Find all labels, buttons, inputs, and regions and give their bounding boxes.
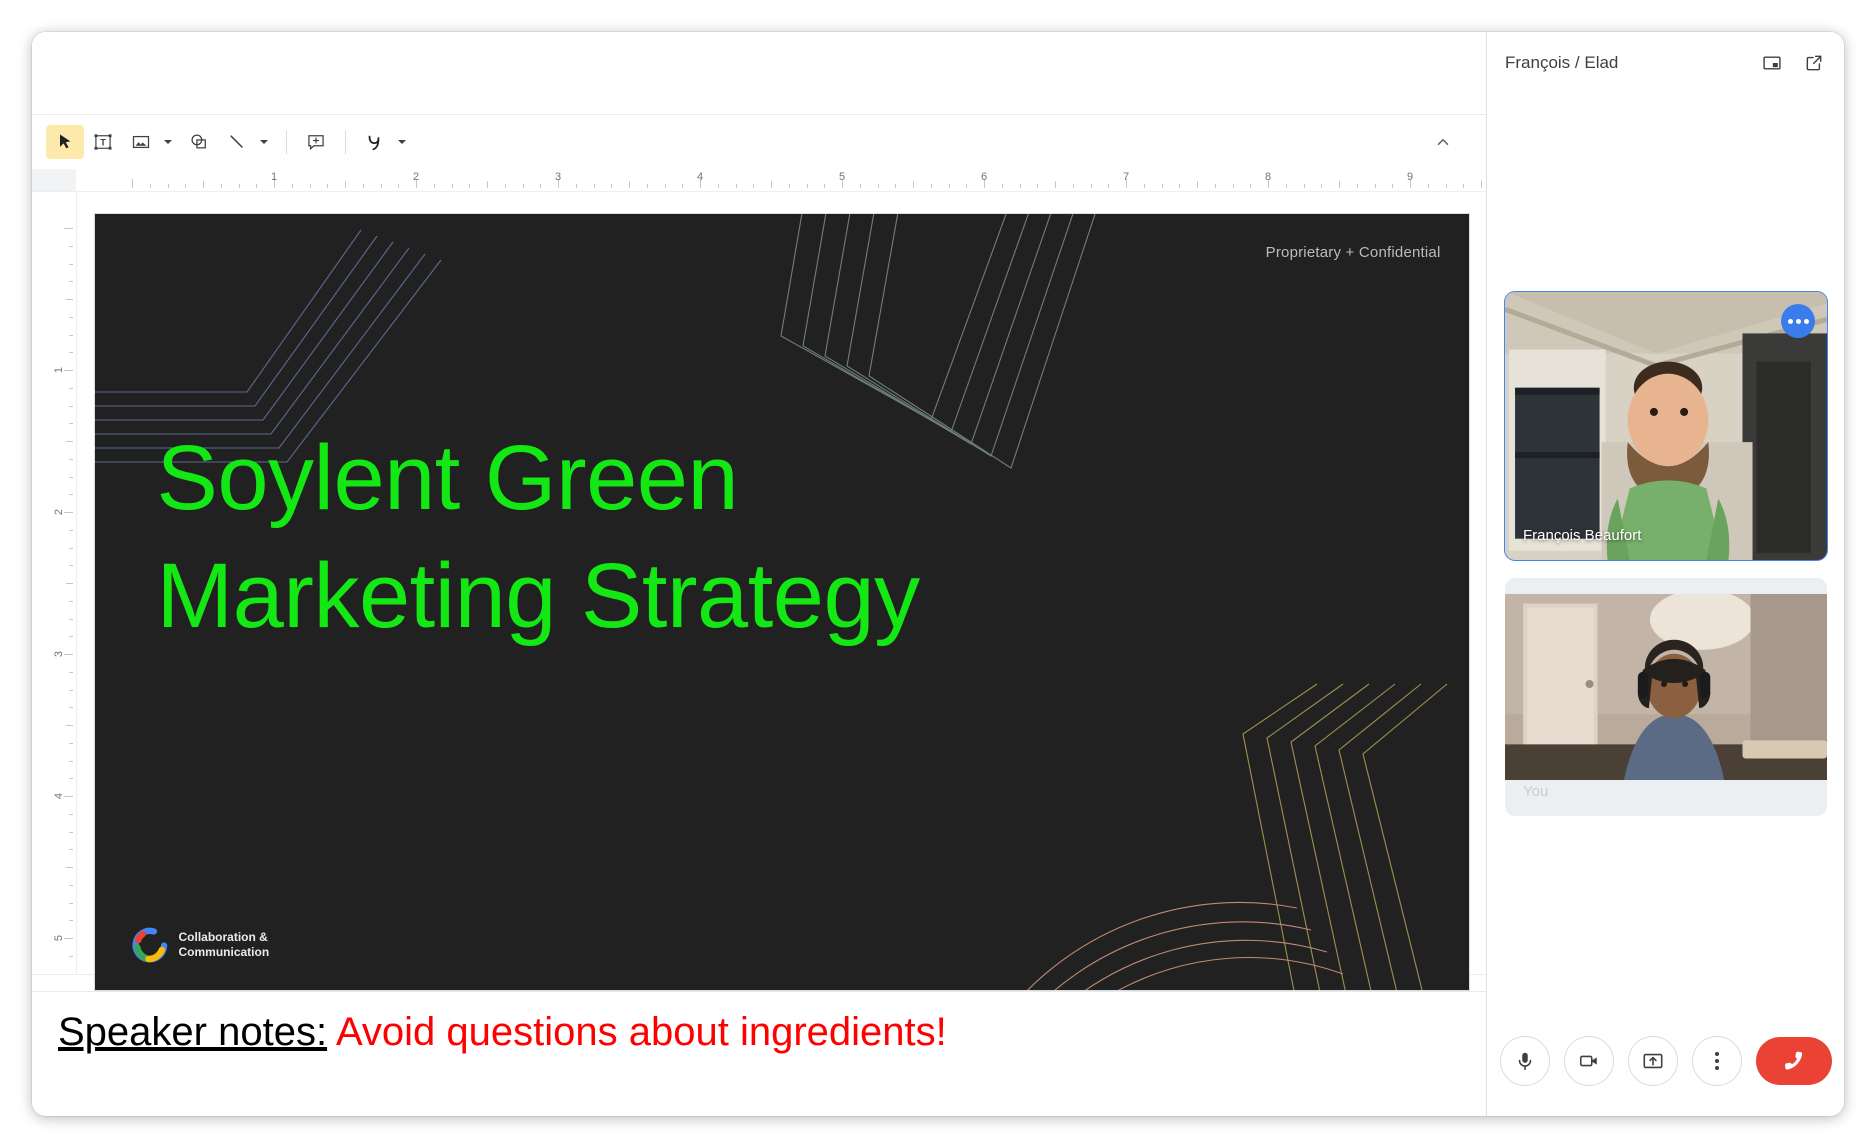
ruler-tick <box>310 184 311 188</box>
collaboration-communication-logo-mark <box>131 926 169 964</box>
ruler-tick <box>1339 181 1340 188</box>
ruler-tick <box>1481 181 1482 188</box>
ruler-tick <box>69 459 73 460</box>
collapse-menus-button[interactable] <box>1426 125 1460 159</box>
more-vertical-icon <box>1715 1052 1719 1070</box>
microphone-icon <box>1514 1050 1536 1072</box>
horizontal-ruler-track: 123456789 <box>76 169 1486 191</box>
ruler-tick <box>1233 184 1234 188</box>
meet-side-panel: François / Elad <box>1486 32 1844 1116</box>
speaker-notes-pane[interactable]: Speaker notes: Avoid questions about ing… <box>32 991 1486 1110</box>
ruler-tick <box>69 974 73 975</box>
shape-tool[interactable] <box>180 125 218 159</box>
ruler-tick <box>69 707 73 708</box>
ruler-tick <box>168 184 169 188</box>
canvas-row: 12345 <box>32 192 1486 974</box>
more-options-button[interactable] <box>1692 1036 1742 1086</box>
ruler-tick <box>363 184 364 188</box>
slide-canvas-area: Proprietary + Confidential Soylent Green… <box>77 192 1486 974</box>
speaker-notes-text[interactable]: Avoid questions about ingredients! <box>336 1010 947 1054</box>
ruler-tick <box>69 636 73 637</box>
ruler-tick <box>69 849 73 850</box>
ruler-tick <box>66 867 73 868</box>
ruler-number: 1 <box>53 367 65 373</box>
ruler-tick <box>665 184 666 188</box>
ruler-number: 2 <box>413 171 419 183</box>
ruler-tick <box>1446 184 1447 188</box>
camera-button[interactable] <box>1564 1036 1614 1086</box>
open-in-new-button[interactable] <box>1797 46 1831 80</box>
ruler-tick <box>824 184 825 188</box>
ruler-tick <box>69 832 73 833</box>
ruler-tick <box>1428 184 1429 188</box>
ruler-tick <box>1286 184 1287 188</box>
present-button[interactable] <box>1628 1036 1678 1086</box>
ruler-tick <box>576 184 577 188</box>
ruler-number: 6 <box>981 171 987 183</box>
meet-participant-tiles: François Beaufort <box>1487 94 1844 1006</box>
ruler-tick <box>64 370 73 371</box>
ruler-tick <box>895 184 896 188</box>
ruler-tick <box>1357 184 1358 188</box>
logo-line-1: Collaboration & <box>179 930 268 944</box>
ruler-tick <box>69 778 73 779</box>
ruler-tick <box>1179 184 1180 188</box>
participant-name-you: You <box>1523 783 1548 800</box>
ruler-tick <box>1392 184 1393 188</box>
ruler-tick <box>1020 184 1021 188</box>
participant-tile-you[interactable]: You <box>1505 578 1827 816</box>
leave-call-button[interactable] <box>1756 1037 1832 1085</box>
ruler-tick <box>487 181 488 188</box>
ruler-tick <box>69 530 73 531</box>
ruler-tick <box>931 184 932 188</box>
video-camera-icon <box>1578 1050 1600 1072</box>
ruler-tick <box>69 246 73 247</box>
participant-video-francois <box>1505 292 1827 560</box>
line-tool[interactable] <box>218 125 256 159</box>
ruler-number: 3 <box>555 171 561 183</box>
ruler-tick <box>64 796 73 797</box>
ruler-tick <box>64 654 73 655</box>
ruler-number: 1 <box>271 171 277 183</box>
ruler-tick <box>594 184 595 188</box>
ruler-tick <box>69 920 73 921</box>
participant-name-francois: François Beaufort <box>1523 527 1641 544</box>
toolbar-divider-2 <box>345 130 346 154</box>
ruler-tick <box>1091 184 1092 188</box>
editor-top-chrome <box>32 32 1486 114</box>
ruler-tick <box>69 672 73 673</box>
bottom-right-arcs <box>997 902 1343 990</box>
ruler-tick <box>64 228 73 229</box>
ruler-tick <box>1250 184 1251 188</box>
confidential-label: Proprietary + Confidential <box>1266 244 1441 261</box>
slides-editor: T <box>32 32 1486 1116</box>
ruler-tick <box>771 181 772 188</box>
add-comment-tool[interactable] <box>297 125 335 159</box>
video-frame-francois <box>1505 292 1827 560</box>
ruler-tick <box>1304 184 1305 188</box>
ruler-tick <box>540 184 541 188</box>
ruler-tick <box>64 938 73 939</box>
ruler-tick <box>69 335 73 336</box>
ruler-tick <box>69 352 73 353</box>
curve-tool-dropdown[interactable] <box>394 125 410 159</box>
screenshot-root: T <box>0 0 1876 1148</box>
ruler-tick <box>1037 184 1038 188</box>
ruler-tick <box>69 903 73 904</box>
ruler-tick <box>69 388 73 389</box>
ruler-number: 5 <box>53 935 65 941</box>
slides-toolbar: T <box>32 114 1486 169</box>
ruler-tick <box>203 181 204 188</box>
line-tool-dropdown[interactable] <box>256 125 272 159</box>
ruler-number: 9 <box>1407 171 1413 183</box>
open-in-new-icon <box>1804 53 1824 73</box>
ruler-number: 5 <box>839 171 845 183</box>
ruler-number: 2 <box>53 509 65 515</box>
ruler-tick <box>66 441 73 442</box>
ruler-corner <box>32 169 76 191</box>
video-frame-you <box>1505 594 1827 780</box>
ruler-tick <box>469 184 470 188</box>
ruler-tick <box>345 181 346 188</box>
ruler-tick <box>150 184 151 188</box>
select-tool[interactable] <box>46 125 84 159</box>
picture-in-picture-icon <box>1762 53 1782 73</box>
ruler-number: 7 <box>1123 171 1129 183</box>
ruler-tick <box>69 565 73 566</box>
bottom-right-brackets <box>1243 684 1447 990</box>
toolbar-divider-1 <box>286 130 287 154</box>
ruler-tick <box>452 184 453 188</box>
ruler-number: 4 <box>697 171 703 183</box>
slide-canvas[interactable]: Proprietary + Confidential Soylent Green… <box>95 214 1469 990</box>
ruler-tick <box>292 184 293 188</box>
meet-call-title: François / Elad <box>1505 53 1747 73</box>
ruler-tick <box>66 725 73 726</box>
meet-control-bar <box>1487 1006 1844 1116</box>
ruler-tick <box>736 184 737 188</box>
ruler-tick <box>132 179 133 188</box>
ruler-tick <box>1197 181 1198 188</box>
ruler-tick <box>1321 184 1322 188</box>
horizontal-ruler[interactable]: 123456789 <box>32 169 1486 192</box>
ruler-tick <box>69 494 73 495</box>
speaker-notes-label: Speaker notes: <box>58 1010 327 1054</box>
ruler-number: 3 <box>53 651 65 657</box>
present-screen-icon <box>1642 1050 1664 1072</box>
ruler-tick <box>69 761 73 762</box>
ruler-tick <box>505 184 506 188</box>
ruler-number: 4 <box>53 793 65 799</box>
ruler-tick <box>1144 184 1145 188</box>
ruler-tick <box>1375 184 1376 188</box>
ruler-tick <box>523 184 524 188</box>
ruler-tick <box>69 406 73 407</box>
ruler-tick <box>1002 184 1003 188</box>
ruler-tick <box>611 184 612 188</box>
app-window: T <box>32 32 1844 1116</box>
ruler-tick <box>69 281 73 282</box>
microphone-button[interactable] <box>1500 1036 1550 1086</box>
ruler-tick <box>69 619 73 620</box>
meet-panel-header: François / Elad <box>1487 32 1844 94</box>
ruler-tick <box>1215 184 1216 188</box>
participant-more-button-francois[interactable] <box>1781 304 1815 338</box>
slide-title[interactable]: Soylent Green Marketing Strategy <box>157 420 1157 656</box>
ruler-tick <box>966 184 967 188</box>
ruler-tick <box>753 184 754 188</box>
participant-video-you <box>1505 594 1827 780</box>
ruler-tick <box>256 184 257 188</box>
ruler-tick <box>69 548 73 549</box>
ruler-number: 8 <box>1265 171 1271 183</box>
picture-in-picture-button[interactable] <box>1755 46 1789 80</box>
ruler-tick <box>949 184 950 188</box>
ruler-tick <box>1073 184 1074 188</box>
ruler-tick <box>327 184 328 188</box>
ruler-tick <box>1055 181 1056 188</box>
ruler-tick <box>807 184 808 188</box>
ruler-tick <box>221 184 222 188</box>
ruler-tick <box>682 184 683 188</box>
ruler-tick <box>878 184 879 188</box>
text-box-tool[interactable]: T <box>84 125 122 159</box>
ruler-tick <box>789 184 790 188</box>
ruler-tick <box>69 885 73 886</box>
ruler-tick <box>64 512 73 513</box>
ruler-tick <box>69 264 73 265</box>
ruler-tick <box>381 184 382 188</box>
ruler-tick <box>1162 184 1163 188</box>
ruler-tick <box>66 583 73 584</box>
hangup-phone-icon <box>1780 1047 1808 1075</box>
ruler-tick <box>860 184 861 188</box>
ruler-tick <box>1108 184 1109 188</box>
ruler-tick <box>69 690 73 691</box>
vertical-ruler[interactable]: 12345 <box>32 192 77 974</box>
ruler-tick <box>69 743 73 744</box>
ruler-tick <box>66 299 73 300</box>
participant-tile-francois[interactable]: François Beaufort <box>1505 292 1827 560</box>
ruler-tick <box>913 181 914 188</box>
ruler-tick <box>69 423 73 424</box>
ruler-tick <box>69 317 73 318</box>
logo-line-2: Communication <box>179 945 270 959</box>
ruler-tick <box>239 184 240 188</box>
ruler-tick <box>69 601 73 602</box>
ruler-tick <box>69 956 73 957</box>
slide-logo: Collaboration &Communication <box>131 926 270 964</box>
ruler-tick <box>398 184 399 188</box>
ruler-tick <box>629 181 630 188</box>
curve-tool[interactable] <box>356 125 394 159</box>
ruler-tick <box>718 184 719 188</box>
ruler-tick <box>69 814 73 815</box>
insert-image-dropdown[interactable] <box>160 125 176 159</box>
ruler-tick <box>1463 184 1464 188</box>
svg-text:T: T <box>100 137 106 147</box>
ruler-tick <box>434 184 435 188</box>
ruler-tick <box>69 477 73 478</box>
ruler-tick <box>185 184 186 188</box>
insert-image-tool[interactable] <box>122 125 160 159</box>
ruler-tick <box>647 184 648 188</box>
logo-text: Collaboration &Communication <box>179 930 270 959</box>
